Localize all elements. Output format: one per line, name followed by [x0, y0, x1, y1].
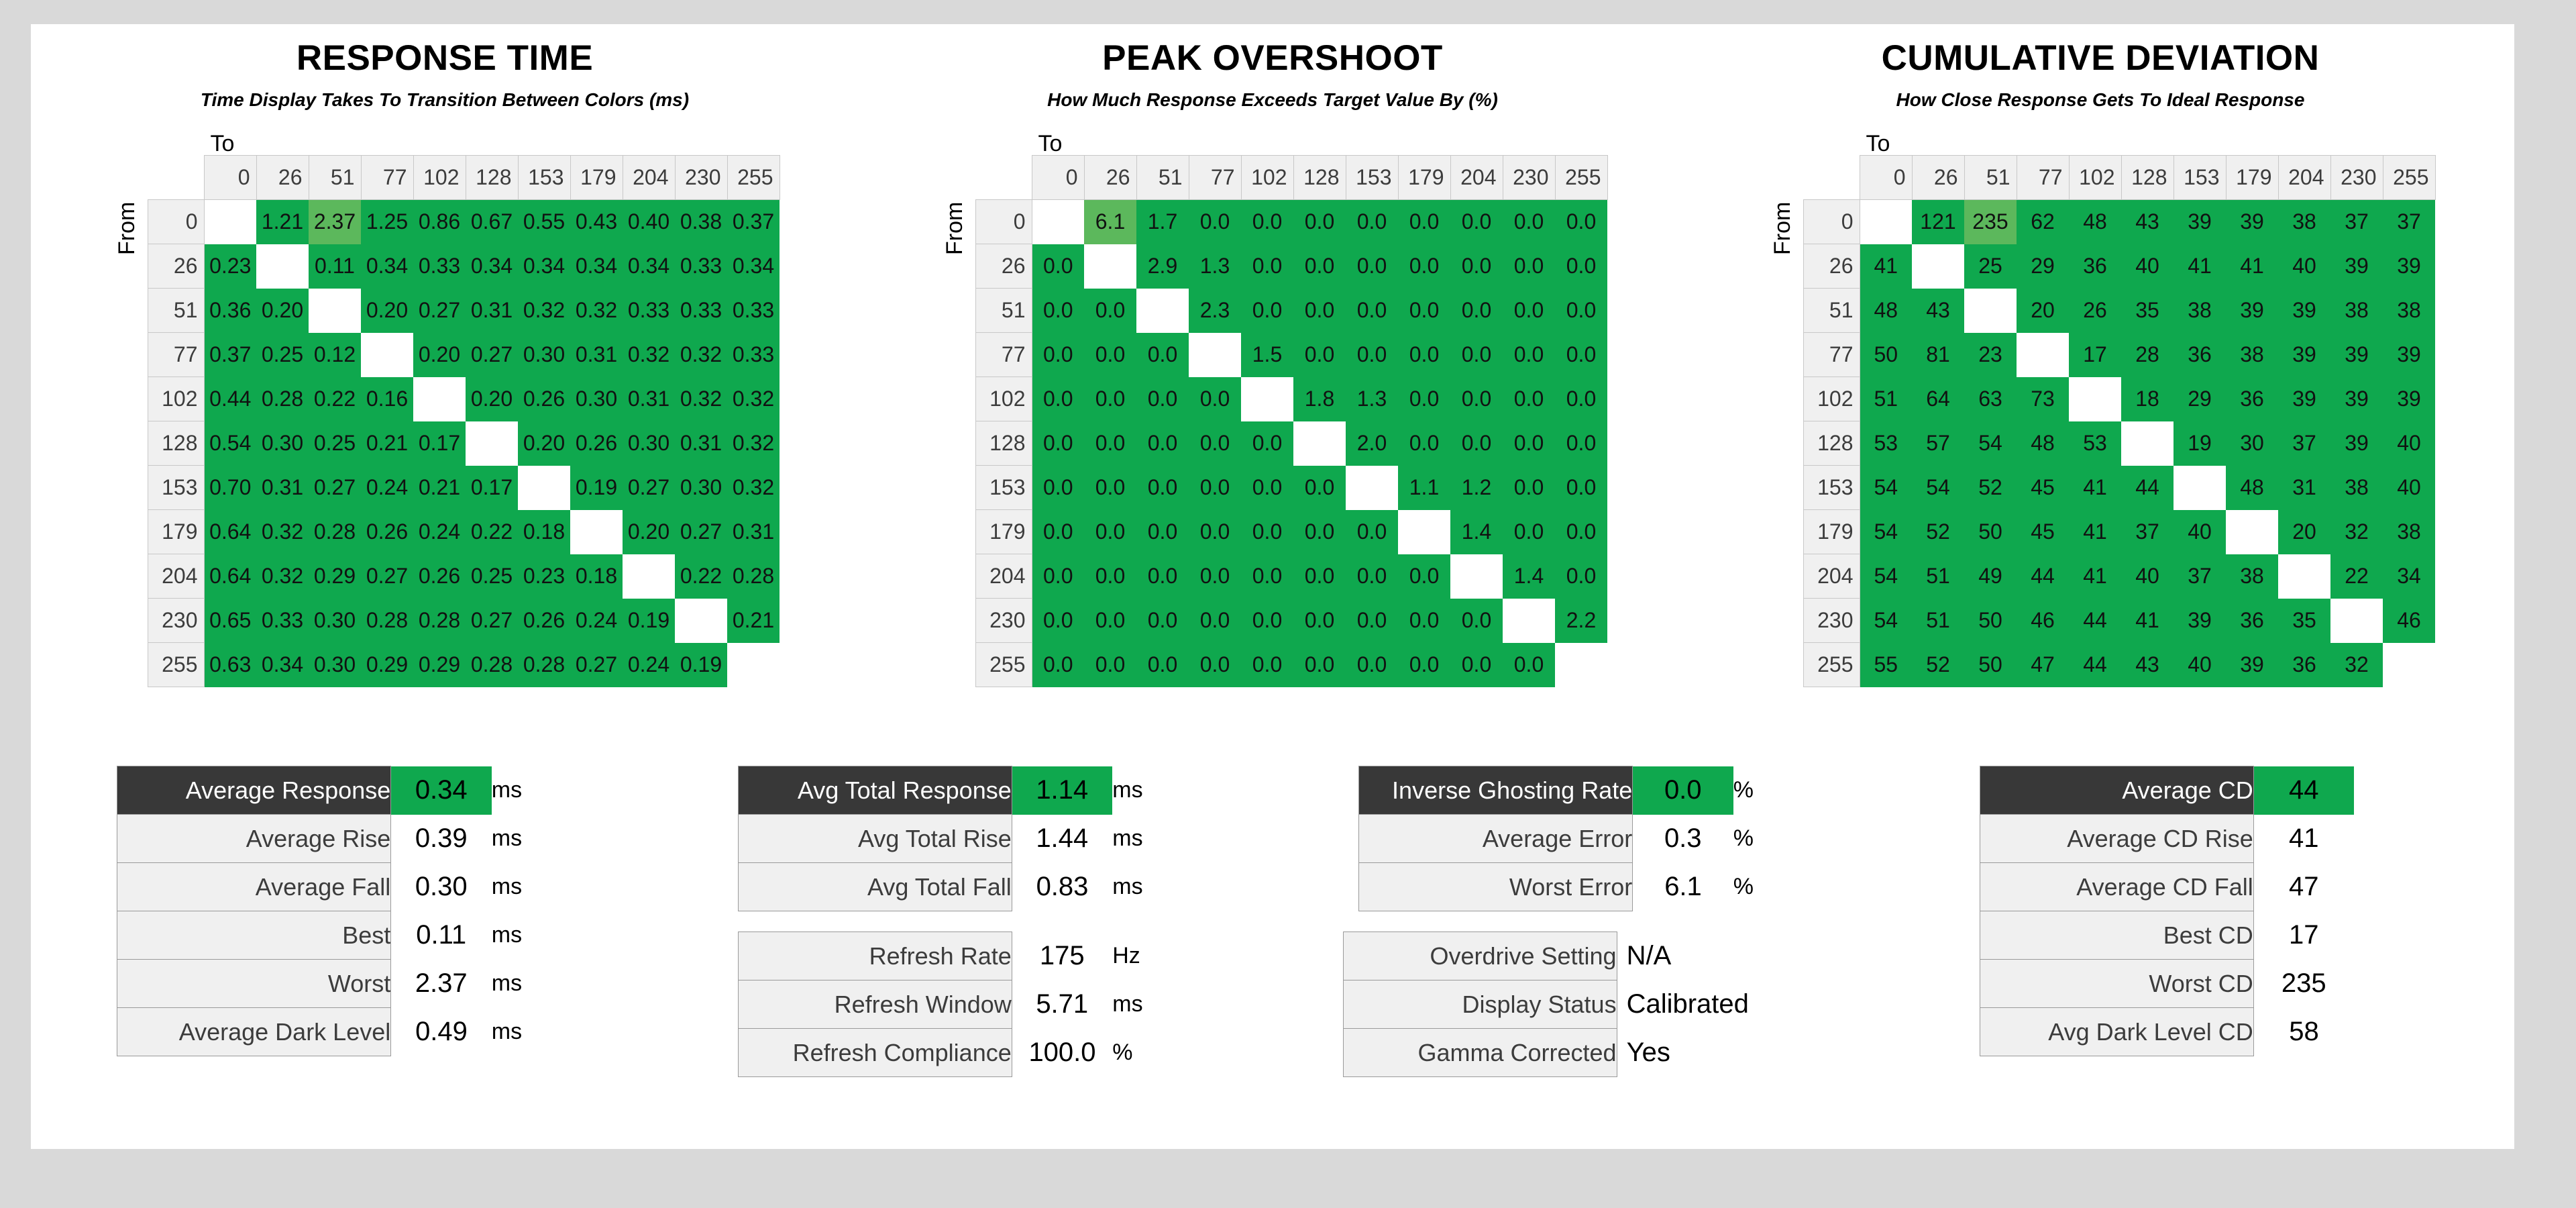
matrix-cell: 0.32: [675, 333, 727, 377]
matrix-cell: 0.0: [1084, 599, 1136, 643]
matrix-cell: 0.0: [1398, 554, 1450, 599]
matrix-cell-diagonal: [1189, 333, 1241, 377]
summary-unit: ms: [492, 1008, 566, 1056]
matrix-cell-diagonal: [675, 599, 727, 643]
matrix-row-header: 255: [1803, 643, 1860, 687]
matrix-cell: 0.0: [1555, 421, 1607, 466]
matrix-cell-diagonal: [570, 510, 623, 554]
summary-table: Average Response0.34msAverage Rise0.39ms…: [117, 766, 566, 1056]
matrix-cell: 0.11: [309, 244, 361, 289]
matrix-cell: 41: [2069, 510, 2121, 554]
matrix-cell: 48: [1860, 289, 1912, 333]
matrix-cell: 43: [2121, 643, 2173, 687]
summary-table: Average CD44Average CD Rise41Average CD …: [1980, 766, 2428, 1056]
summary-unit: [2354, 815, 2428, 863]
summary-value: 235: [2253, 960, 2354, 1008]
matrix-row: 510.360.200.200.270.310.320.320.330.330.…: [148, 289, 780, 333]
summary-label: Best: [117, 911, 391, 960]
matrix-cell: 0.0: [1136, 333, 1189, 377]
summary-label: Worst: [117, 960, 391, 1008]
matrix-cell-diagonal: [413, 377, 466, 421]
summary-group-cd-metrics: Average CD44Average CD Rise41Average CD …: [1980, 766, 2428, 1056]
summary-unit: [2354, 1008, 2428, 1056]
matrix-col-header: 26: [256, 156, 309, 200]
matrix-row: 06.11.70.00.00.00.00.00.00.00.0: [975, 200, 1607, 244]
matrix-cell: 0.30: [570, 377, 623, 421]
summary-unit: %: [1733, 766, 1807, 815]
summary-row: Average Fall0.30ms: [117, 863, 566, 911]
matrix-col-header: 255: [2383, 156, 2435, 200]
matrix-cell: 0.23: [518, 554, 570, 599]
matrix-cell: 0.0: [1503, 421, 1555, 466]
matrix-cell: 41: [2121, 599, 2173, 643]
matrix-cell: 0.16: [361, 377, 413, 421]
matrix-cell-diagonal: [256, 244, 309, 289]
matrix-cell: 0.0: [1084, 377, 1136, 421]
summary-column-total-response-summary: Avg Total Response1.14msAvg Total Rise1.…: [652, 766, 1273, 1097]
matrix-cell: 0.0: [1032, 289, 1084, 333]
matrix-cell: 0.0: [1136, 554, 1189, 599]
matrix-cell: 1.4: [1450, 510, 1503, 554]
matrix-cell: 39: [2330, 377, 2383, 421]
matrix-cell: 0.33: [623, 289, 675, 333]
matrix-cell: 39: [2278, 333, 2330, 377]
matrix-cell: 0.0: [1555, 466, 1607, 510]
matrix-cell: 0.0: [1189, 643, 1241, 687]
matrix-row: 12853575448531930373940: [1803, 421, 2435, 466]
matrix-cell: 37: [2278, 421, 2330, 466]
matrix-cell-diagonal: [1136, 289, 1189, 333]
matrix-cell: 0.0: [1346, 554, 1398, 599]
matrix-cell: 40: [2121, 244, 2173, 289]
matrix-col-header: 204: [623, 156, 675, 200]
matrix-cell: 0.0: [1293, 289, 1346, 333]
matrix-cell: 54: [1860, 466, 1912, 510]
matrix-cell: 0.21: [413, 466, 466, 510]
matrix-cell: 0.0: [1398, 599, 1450, 643]
matrix-title: RESPONSE TIME: [297, 38, 593, 79]
matrix-cell: 0.0: [1503, 643, 1555, 687]
summary-row: Refresh Rate175Hz: [738, 932, 1186, 980]
matrix-cell: 18: [2121, 377, 2173, 421]
summary-label: Worst CD: [1980, 960, 2253, 1008]
matrix-cell: 0.0: [1503, 333, 1555, 377]
matrix-row-header: 77: [1803, 333, 1860, 377]
matrix-col-header: 77: [361, 156, 413, 200]
matrix-col-header: 26: [1912, 156, 1964, 200]
summary-unit: ms: [492, 815, 566, 863]
matrix-row: 1280.00.00.00.00.02.00.00.00.00.0: [975, 421, 1607, 466]
matrix-cell: 0.32: [256, 510, 309, 554]
matrix-row: 2300.00.00.00.00.00.00.00.00.02.2: [975, 599, 1607, 643]
matrix-cell: 39: [2173, 200, 2226, 244]
summary-value: 100.0: [1012, 1029, 1112, 1077]
matrix-subtitle: How Much Response Exceeds Target Value B…: [1047, 89, 1498, 111]
matrix-cell: 25: [1964, 244, 2017, 289]
matrix-col-header: 153: [1346, 156, 1398, 200]
matrix-cell: 32: [2330, 643, 2383, 687]
summary-row: Refresh Window5.71ms: [738, 980, 1186, 1029]
summary-label: Refresh Window: [738, 980, 1012, 1029]
matrix-cell: 0.33: [675, 244, 727, 289]
summary-row: Average CD Rise41: [1980, 815, 2428, 863]
matrix-cell: 40: [2383, 421, 2435, 466]
matrix-cell: 50: [1964, 643, 2017, 687]
matrix-cell: 0.0: [1398, 643, 1450, 687]
matrix-cell: 48: [2017, 421, 2069, 466]
matrix-cell: 0.19: [623, 599, 675, 643]
matrix-cell: 0.0: [1241, 200, 1293, 244]
matrix-cell: 0.0: [1189, 554, 1241, 599]
matrix-cell: 0.33: [727, 289, 780, 333]
matrix-row-header: 0: [975, 200, 1032, 244]
summary-row: Avg Total Response1.14ms: [738, 766, 1186, 815]
matrix-cell: 51: [1912, 599, 1964, 643]
matrix-cell: 0.28: [466, 643, 518, 687]
matrix-cell: 54: [1964, 421, 2017, 466]
matrix-col-header: 26: [1084, 156, 1136, 200]
summary-label: Average Dark Level: [117, 1008, 391, 1056]
summary-row: Worst2.37ms: [117, 960, 566, 1008]
matrix-row-header: 128: [1803, 421, 1860, 466]
matrix-col-header: 102: [413, 156, 466, 200]
matrix-row-header: 0: [1803, 200, 1860, 244]
summary-group-overshoot-metrics: Inverse Ghosting Rate0.0%Average Error0.…: [1358, 766, 1807, 911]
summary-unit: [1749, 1029, 1823, 1077]
matrix-cell-diagonal: [2226, 510, 2278, 554]
matrix-cell: 0.0: [1189, 200, 1241, 244]
summary-row: Worst CD235: [1980, 960, 2428, 1008]
matrix-cell: 2.0: [1346, 421, 1398, 466]
matrix-cell: 38: [2383, 289, 2435, 333]
matrix-cell: 41: [2226, 244, 2278, 289]
matrix-cell-diagonal: [1912, 244, 1964, 289]
matrix-corner-cell: [148, 156, 204, 200]
summary-unit: ms: [1112, 980, 1186, 1029]
matrix-cell: 41: [1860, 244, 1912, 289]
summary-column-response-summary: Average Response0.34msAverage Rise0.39ms…: [31, 766, 652, 1097]
matrix-cell: 0.26: [518, 599, 570, 643]
summary-label: Average Rise: [117, 815, 391, 863]
matrix-cell: 0.0: [1189, 599, 1241, 643]
summary-table: Avg Total Response1.14msAvg Total Rise1.…: [738, 766, 1187, 911]
matrix-cell: 0.0: [1032, 377, 1084, 421]
matrix-row: 1530.00.00.00.00.00.01.11.20.00.0: [975, 466, 1607, 510]
matrix-cell: 0.0: [1346, 333, 1398, 377]
matrix-cell-diagonal: [1346, 466, 1398, 510]
matrix-cell: 0.24: [570, 599, 623, 643]
matrix-cell: 36: [2069, 244, 2121, 289]
matrix-row-header: 230: [1803, 599, 1860, 643]
summary-value: 175: [1012, 932, 1112, 980]
matrix-row: 1790.640.320.280.260.240.220.180.200.270…: [148, 510, 780, 554]
summary-row: Best CD17: [1980, 911, 2428, 960]
matrix-cell: 36: [2173, 333, 2226, 377]
matrix-cell: 0.0: [1346, 599, 1398, 643]
summary-row: Average Error0.3%: [1359, 815, 1807, 863]
summary-unit: [2354, 766, 2428, 815]
matrix-cell: 0.0: [1136, 466, 1189, 510]
matrix-cell: 0.0: [1084, 466, 1136, 510]
matrix-cell-diagonal: [1293, 421, 1346, 466]
matrix-cell: 39: [2278, 289, 2330, 333]
matrix-cell: 1.25: [361, 200, 413, 244]
matrix-cell-diagonal: [1555, 643, 1607, 687]
matrix-cell: 0.0: [1503, 200, 1555, 244]
matrix-cell: 38: [2226, 554, 2278, 599]
matrix-row: 2550.630.340.300.290.290.280.280.270.240…: [148, 643, 780, 687]
summary-row: Avg Total Fall0.83ms: [738, 863, 1186, 911]
summary-value: 0.49: [391, 1008, 492, 1056]
axis-label-from: From: [942, 202, 968, 255]
matrix-cell: 37: [2173, 554, 2226, 599]
matrix-corner-cell: [1803, 156, 1860, 200]
matrix-cell: 0.86: [413, 200, 466, 244]
matrix-cell: 6.1: [1084, 200, 1136, 244]
matrix-cell: 0.0: [1241, 599, 1293, 643]
matrix-cell: 0.32: [675, 377, 727, 421]
matrix-row-header: 26: [148, 244, 204, 289]
matrix-row: 10251646373182936393939: [1803, 377, 2435, 421]
matrix-cell: 29: [2017, 244, 2069, 289]
summary-group-display-settings: Overdrive SettingN/ADisplay StatusCalibr…: [1343, 932, 1823, 1077]
matrix-cell: 44: [2017, 554, 2069, 599]
matrix-cell: 0.21: [727, 599, 780, 643]
matrix-cell: 0.28: [727, 554, 780, 599]
matrix-row-header: 204: [148, 554, 204, 599]
summary-unit: %: [1112, 1029, 1186, 1077]
matrix-cell: 0.20: [466, 377, 518, 421]
matrix-row-header: 153: [148, 466, 204, 510]
matrix-cell: 31: [2278, 466, 2330, 510]
matrix-col-header: 51: [1136, 156, 1189, 200]
matrix-row-header: 102: [1803, 377, 1860, 421]
matrix-cell: 32: [2330, 510, 2383, 554]
matrix-cell: 0.30: [675, 466, 727, 510]
matrix-cell: 0.0: [1555, 200, 1607, 244]
matrix-cell: 0.0: [1450, 643, 1503, 687]
matrix-cell: 43: [2121, 200, 2173, 244]
summary-row: Average Rise0.39ms: [117, 815, 566, 863]
matrix-cell: 1.4: [1503, 554, 1555, 599]
matrix-col-header: 204: [1450, 156, 1503, 200]
matrix-row-header: 179: [975, 510, 1032, 554]
matrix-cell: 0.30: [518, 333, 570, 377]
matrix-cell: 0.27: [413, 289, 466, 333]
matrix-cell: 0.0: [1450, 289, 1503, 333]
matrix-cell: 51: [1912, 554, 1964, 599]
matrix-row: 2550.00.00.00.00.00.00.00.00.00.0: [975, 643, 1607, 687]
axis-label-to: To: [1866, 131, 1890, 157]
axis-label-from: From: [1770, 202, 1796, 255]
matrix-cell: 2.3: [1189, 289, 1241, 333]
matrix-cell: 0.0: [1398, 244, 1450, 289]
matrix-cell: 1.7: [1136, 200, 1189, 244]
matrix-title: PEAK OVERSHOOT: [1102, 38, 1443, 79]
matrix-header-row: 0265177102128153179204230255: [148, 156, 780, 200]
summary-row: Refresh Compliance100.0%: [738, 1029, 1186, 1077]
matrix-cell: 39: [2330, 421, 2383, 466]
matrix-cell: 52: [1912, 643, 1964, 687]
matrix-cell: 121: [1912, 200, 1964, 244]
matrix-cell: 37: [2121, 510, 2173, 554]
matrix-cell: 0.0: [1503, 466, 1555, 510]
matrix-cell: 0.34: [518, 244, 570, 289]
matrix-cell: 0.0: [1450, 421, 1503, 466]
matrix-cell: 0.0: [1503, 510, 1555, 554]
summary-unit: ms: [1112, 863, 1186, 911]
matrix-cell: 51: [1860, 377, 1912, 421]
matrix-cell-diagonal: [2383, 643, 2435, 687]
summary-unit: %: [1733, 863, 1807, 911]
matrix-cell: 41: [2069, 466, 2121, 510]
matrix-cell: 41: [2069, 554, 2121, 599]
matrix-row: 2641252936404141403939: [1803, 244, 2435, 289]
matrix-cell: 0.24: [413, 510, 466, 554]
matrix-cell: 0.32: [623, 333, 675, 377]
summary-label: Avg Total Response: [738, 766, 1012, 815]
matrix-cell: 30: [2226, 421, 2278, 466]
matrix-cell: 53: [2069, 421, 2121, 466]
matrix-cell: 0.34: [361, 244, 413, 289]
matrix-cell: 0.64: [204, 554, 256, 599]
matrix-cell: 37: [2383, 200, 2435, 244]
matrix-col-header: 204: [2278, 156, 2330, 200]
matrix-cell: 47: [2017, 643, 2069, 687]
matrix-row-header: 26: [1803, 244, 1860, 289]
matrix-cell: 0.34: [727, 244, 780, 289]
matrix-row-header: 102: [975, 377, 1032, 421]
matrix-cell: 0.0: [1241, 244, 1293, 289]
matrix-row: 1020.00.00.00.01.81.30.00.00.00.0: [975, 377, 1607, 421]
matrix-cell: 81: [1912, 333, 1964, 377]
matrix-cell: 0.25: [466, 554, 518, 599]
matrix-row-header: 255: [975, 643, 1032, 687]
summary-value: 1.14: [1012, 766, 1112, 815]
matrix-cell: 48: [2069, 200, 2121, 244]
matrix-cell: 28: [2121, 333, 2173, 377]
summary-row: Average CD44: [1980, 766, 2428, 815]
matrix-cell: 0.0: [1293, 200, 1346, 244]
matrix-cell: 0.0: [1398, 377, 1450, 421]
matrix-row-header: 51: [148, 289, 204, 333]
matrix-cell: 0.0: [1241, 554, 1293, 599]
summary-label: Avg Total Rise: [738, 815, 1012, 863]
matrix-cell: 54: [1860, 599, 1912, 643]
matrix-cell: 0.22: [466, 510, 518, 554]
matrix-cell: 2.2: [1555, 599, 1607, 643]
matrix-cell: 2.37: [309, 200, 361, 244]
summary-unit: [2354, 960, 2428, 1008]
matrix-cell: 36: [2226, 599, 2278, 643]
matrix-cell: 0.0: [1450, 200, 1503, 244]
matrix-cell: 0.0: [1293, 643, 1346, 687]
matrix-cell-diagonal: [1084, 244, 1136, 289]
matrix-cell: 0.30: [256, 421, 309, 466]
matrix-cell: 0.29: [361, 643, 413, 687]
matrix-cell: 1.3: [1346, 377, 1398, 421]
matrix-cell: 0.0: [1241, 643, 1293, 687]
summary-label: Avg Total Fall: [738, 863, 1012, 911]
matrix-row: 2040.00.00.00.00.00.00.00.01.40.0: [975, 554, 1607, 599]
matrix-col-header: 230: [1503, 156, 1555, 200]
matrix-cell: 0.20: [256, 289, 309, 333]
matrix-wrapper: ToFrom0265177102128153179204230255012123…: [1766, 131, 2436, 687]
summary-row: Worst Error6.1%: [1359, 863, 1807, 911]
matrix-row-header: 230: [975, 599, 1032, 643]
matrix-cell: 0.33: [675, 289, 727, 333]
matrix-cell: 0.0: [1555, 510, 1607, 554]
matrix-cell-diagonal: [1503, 599, 1555, 643]
matrix-cell: 0.0: [1032, 599, 1084, 643]
summary-label: Average Fall: [117, 863, 391, 911]
summary-label: Overdrive Setting: [1343, 932, 1617, 980]
matrix-cell: 39: [2383, 333, 2435, 377]
matrix-cell: 23: [1964, 333, 2017, 377]
matrix-cell: 0.0: [1032, 554, 1084, 599]
matrix-cell: 0.63: [204, 643, 256, 687]
matrix-cell: 46: [2017, 599, 2069, 643]
matrix-row-header: 26: [975, 244, 1032, 289]
matrix-cell: 50: [1964, 599, 2017, 643]
matrix-cell: 0.0: [1189, 510, 1241, 554]
matrix-corner-cell: [975, 156, 1032, 200]
summary-row: Display StatusCalibrated: [1343, 980, 1823, 1029]
matrix-cell: 40: [2383, 466, 2435, 510]
summary-row: Avg Total Rise1.44ms: [738, 815, 1186, 863]
summary-label: Average Response: [117, 766, 391, 815]
matrix-row: 15354545245414448313840: [1803, 466, 2435, 510]
matrix-cell: 43: [1912, 289, 1964, 333]
matrix-cell: 0.27: [623, 466, 675, 510]
matrix-cell: 39: [2173, 599, 2226, 643]
matrix-cell: 0.31: [570, 333, 623, 377]
matrix-cell: 0.40: [623, 200, 675, 244]
matrix-cell: 0.26: [570, 421, 623, 466]
summary-unit: ms: [492, 960, 566, 1008]
matrix-col-header: 0: [1860, 156, 1912, 200]
matrix-row-header: 153: [975, 466, 1032, 510]
matrix-cell: 38: [2173, 289, 2226, 333]
matrix-title: CUMULATIVE DEVIATION: [1882, 38, 2320, 79]
matrix-cell-diagonal: [2121, 421, 2173, 466]
summary-row: Average Response0.34ms: [117, 766, 566, 815]
matrix-col-header: 102: [1241, 156, 1293, 200]
matrix-cell: 0.0: [1293, 554, 1346, 599]
matrix-cell: 0.0: [1241, 421, 1293, 466]
matrix-cell: 37: [2330, 200, 2383, 244]
matrix-cell: 1.21: [256, 200, 309, 244]
matrix-cell-diagonal: [727, 643, 780, 687]
matrix-cell-diagonal: [518, 466, 570, 510]
matrix-cell-diagonal: [2278, 554, 2330, 599]
matrix-cell: 0.36: [204, 289, 256, 333]
matrix-cell-diagonal: [2173, 466, 2226, 510]
matrix-cell: 54: [1860, 510, 1912, 554]
matrix-subtitle: How Close Response Gets To Ideal Respons…: [1896, 89, 2305, 111]
matrix-cell: 0.0: [1503, 377, 1555, 421]
matrix-cell: 0.32: [727, 466, 780, 510]
summary-group-refresh-metrics: Refresh Rate175HzRefresh Window5.71msRef…: [738, 932, 1187, 1077]
summary-row: Avg Dark Level CD58: [1980, 1008, 2428, 1056]
matrix-header-row: 0265177102128153179204230255: [975, 156, 1607, 200]
summary-value: Yes: [1617, 1029, 1749, 1077]
matrix-cell: 0.19: [570, 466, 623, 510]
matrix-row-header: 51: [975, 289, 1032, 333]
matrix-cell: 0.33: [727, 333, 780, 377]
matrix-cell: 0.0: [1503, 289, 1555, 333]
summary-unit: ms: [492, 911, 566, 960]
